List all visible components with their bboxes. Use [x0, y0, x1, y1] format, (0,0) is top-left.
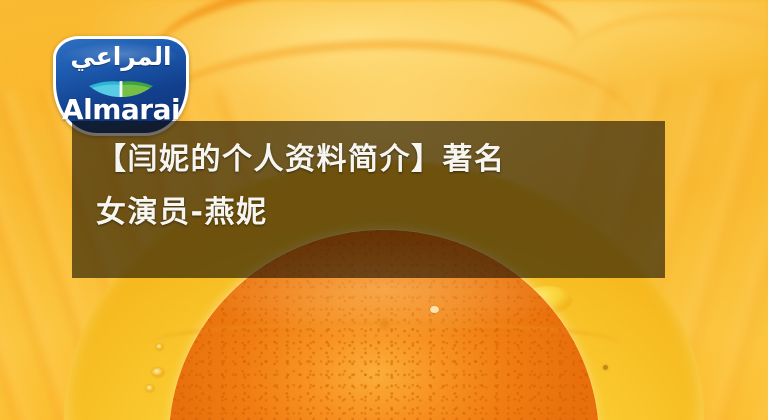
juice-bubble [430, 306, 439, 313]
juice-bubble [146, 385, 154, 392]
juice-bubble [152, 368, 164, 377]
caption-line-1: 【闫妮的个人资料简介】著名 [96, 142, 506, 177]
screenshot-canvas: المراعي Almarai 【闫妮的个人资料简介】著名女演员-燕妮 [0, 0, 768, 420]
juice-bubble [156, 344, 163, 350]
caption-line-2: 女演员-燕妮 [96, 195, 267, 230]
logo-arabic-text: المراعي [53, 44, 189, 69]
caption-text: 【闫妮的个人资料简介】著名女演员-燕妮 [96, 133, 656, 240]
logo-wordmark: Almarai [53, 96, 189, 124]
juice-bubble [603, 365, 608, 370]
juice-notch [378, 316, 391, 332]
